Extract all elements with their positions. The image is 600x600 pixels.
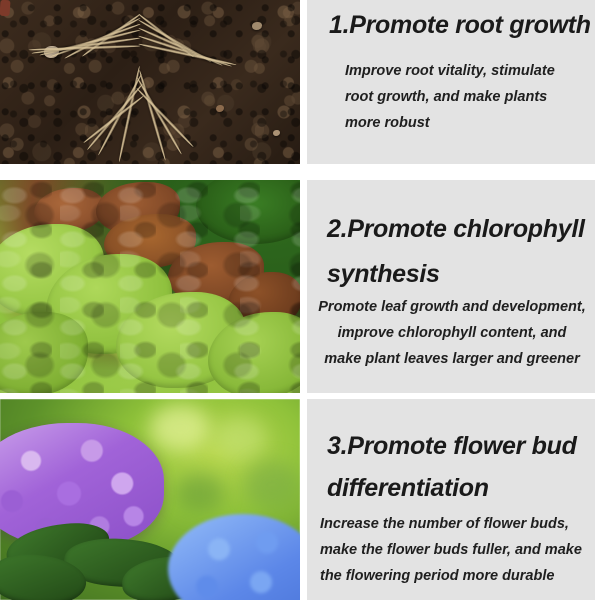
bokeh-highlight	[214, 417, 266, 459]
bokeh-highlight	[176, 473, 224, 513]
benefit-text-panel: 2.Promote chlorophyll synthesis Promote …	[307, 180, 595, 393]
bokeh-highlight	[150, 405, 210, 451]
root-crown	[0, 0, 11, 16]
benefit-heading: 3.Promote flower bud differentiation	[327, 425, 577, 509]
benefit-section-chlorophyll-synthesis: 2.Promote chlorophyll synthesis Promote …	[0, 180, 600, 393]
plant-roots-in-soil-photo	[0, 0, 300, 164]
benefit-section-root-growth: 1.Promote root growth Improve root vital…	[0, 0, 600, 164]
lettuce-garden-bed-photo	[0, 180, 300, 393]
leaf-texture-overlay	[0, 180, 300, 393]
purple-hydrangea-bloom-photo	[0, 399, 300, 600]
benefit-section-flower-bud-differentiation: 3.Promote flower bud differentiation Inc…	[0, 399, 600, 600]
benefits-infographic: 1.Promote root growth Improve root vital…	[0, 0, 600, 600]
benefit-heading: 1.Promote root growth	[329, 8, 591, 42]
benefit-description: Improve root vitality, stimulate root gr…	[345, 58, 555, 136]
benefit-text-panel: 1.Promote root growth Improve root vital…	[307, 0, 595, 164]
benefit-description: Increase the number of flower buds, make…	[320, 511, 582, 589]
benefit-text-panel: 3.Promote flower bud differentiation Inc…	[307, 399, 595, 600]
bokeh-highlight	[244, 461, 300, 509]
benefit-description: Promote leaf growth and development, imp…	[313, 294, 591, 372]
benefit-heading: 2.Promote chlorophyll synthesis	[327, 207, 585, 297]
